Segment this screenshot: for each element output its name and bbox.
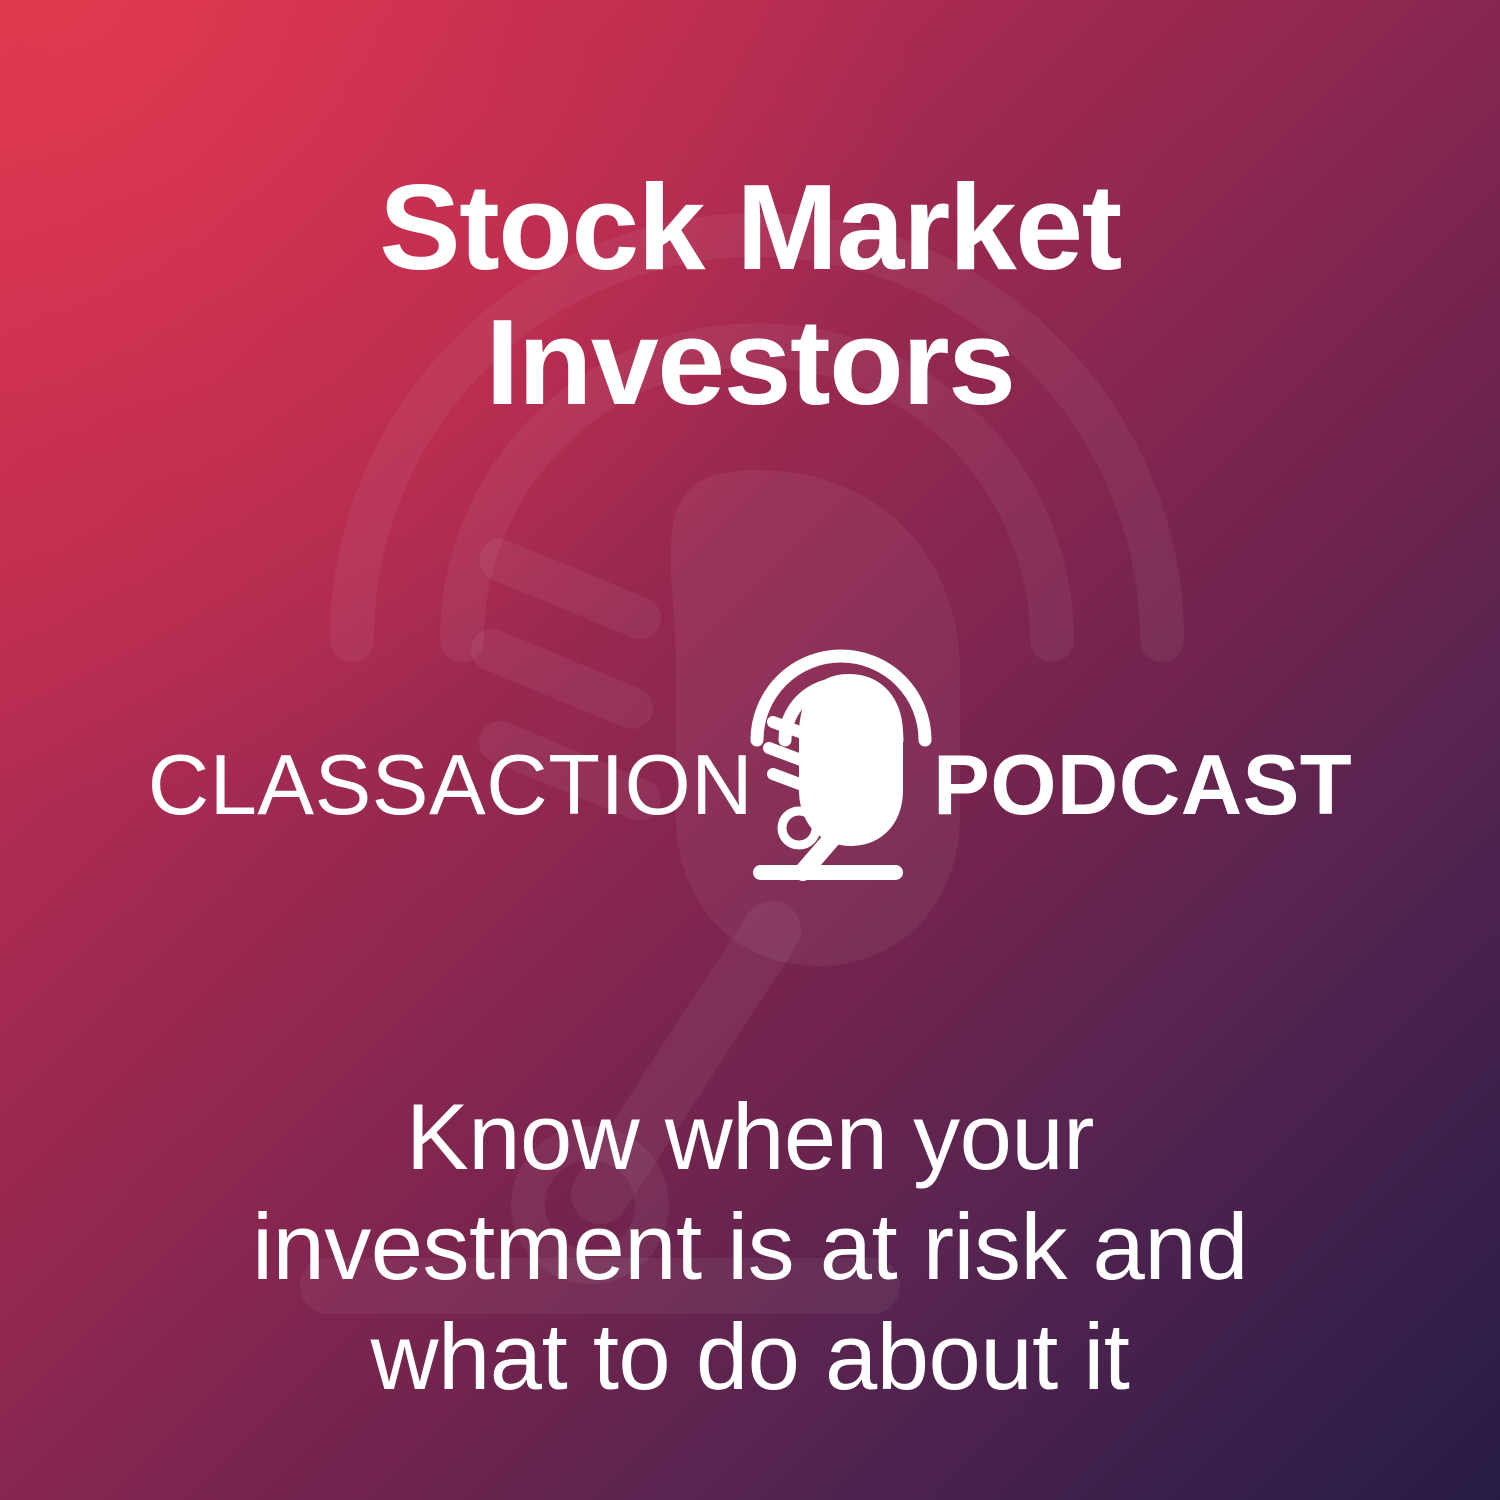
microphone-icon: [743, 622, 939, 892]
logo-word-classaction: CLASSACTION: [148, 743, 753, 828]
logo-word-podcast: PODCAST: [933, 743, 1352, 828]
brand-logo: CLASSACTION: [0, 612, 1500, 902]
podcast-cover-art: Stock Market Investors CLASSACTION: [0, 0, 1500, 1500]
page-title: Stock Market Investors: [0, 160, 1500, 431]
subtitle-tagline: Know when your investment is at risk and…: [150, 1082, 1350, 1412]
